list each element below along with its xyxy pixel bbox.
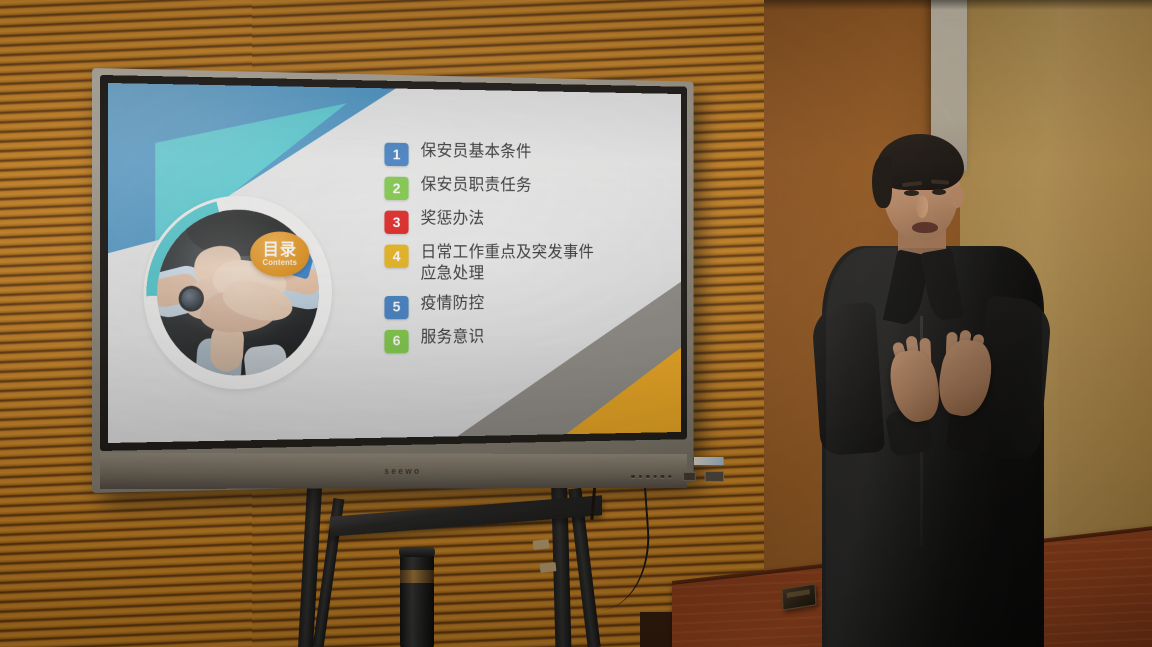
speaker-hole <box>631 475 634 479</box>
display-chin-bar: seewo <box>100 453 687 489</box>
cable-clip <box>540 562 557 573</box>
agenda-number-badge-4: 4 <box>384 245 408 268</box>
ceiling-shadow <box>764 0 1152 10</box>
presenter-eye-right <box>932 189 946 195</box>
presenter-hair-side <box>872 156 892 208</box>
agenda-item-1[interactable]: 1 保安员基本条件 <box>384 141 651 169</box>
wall-panel-far-right <box>1058 0 1152 560</box>
agenda-item-2[interactable]: 2 保安员职责任务 <box>384 175 651 202</box>
contents-badge-title-cn: 目录 <box>263 241 297 258</box>
agenda-number-badge-1: 1 <box>384 143 408 167</box>
contents-badge-title-en: Contents <box>263 259 298 267</box>
thermos-flask[interactable] <box>400 552 434 647</box>
power-button[interactable] <box>683 472 696 481</box>
thermos-band <box>400 570 434 583</box>
agenda-item-4[interactable]: 4 日常工作重点及突发事件 应急处理 <box>384 243 651 285</box>
usb-port[interactable] <box>705 471 724 482</box>
agenda-item-3[interactable]: 3 奖惩办法 <box>384 209 651 235</box>
presenter-eye-left <box>904 190 919 196</box>
slide-screen[interactable]: 目录 Contents 1 保安员基本条件 2 保安员职责任务 3 奖惩办法 <box>108 83 681 443</box>
presenter-mouth <box>912 222 938 233</box>
agenda-number-badge-5: 5 <box>384 295 408 318</box>
speaker-hole <box>646 475 649 478</box>
agenda-item-5[interactable]: 5 疫情防控 <box>384 293 651 319</box>
agenda-number-badge-2: 2 <box>384 177 408 200</box>
display-control-panel[interactable] <box>631 471 724 482</box>
agenda-number-badge-6: 6 <box>384 329 408 352</box>
speaker-hole <box>653 475 656 478</box>
agenda-label-4: 日常工作重点及突发事件 应急处理 <box>421 243 594 285</box>
agenda-number-badge-3: 3 <box>384 211 408 234</box>
presenter-nose <box>916 196 928 218</box>
thermos-cap <box>399 547 435 557</box>
agenda-list: 1 保安员基本条件 2 保安员职责任务 3 奖惩办法 4 日常工作重点及突发事件… <box>384 141 651 353</box>
speaker-hole <box>638 475 641 478</box>
contents-badge: 目录 Contents <box>250 231 309 276</box>
interactive-display[interactable]: 目录 Contents 1 保安员基本条件 2 保安员职责任务 3 奖惩办法 <box>92 68 742 493</box>
presenter-ear <box>950 186 964 208</box>
teamwork-photo-circle <box>143 195 331 390</box>
meeting-room-scene: 目录 Contents 1 保安员基本条件 2 保安员职责任务 3 奖惩办法 <box>0 0 1152 647</box>
agenda-label-3: 奖惩办法 <box>421 209 485 230</box>
display-sticker <box>694 457 724 465</box>
presenter-shoulder-left <box>811 302 885 456</box>
agenda-label-1: 保安员基本条件 <box>421 141 532 163</box>
cable-clip <box>533 539 550 550</box>
agenda-label-6: 服务意识 <box>421 327 485 348</box>
speaker-hole <box>668 475 671 478</box>
presenter <box>816 128 1066 647</box>
agenda-item-6[interactable]: 6 服务意识 <box>384 326 651 353</box>
agenda-label-2: 保安员职责任务 <box>421 175 532 197</box>
agenda-label-5: 疫情防控 <box>421 293 485 314</box>
display-brand-logo: seewo <box>384 466 421 476</box>
speaker-hole <box>661 475 664 478</box>
